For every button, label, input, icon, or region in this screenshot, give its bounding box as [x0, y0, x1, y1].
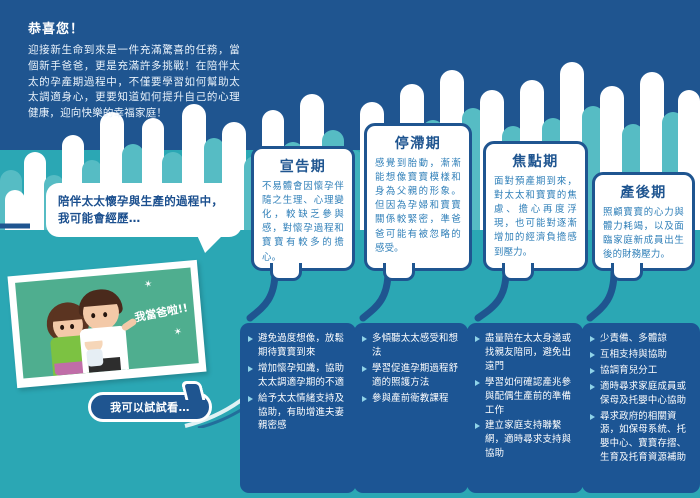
phase-card-0: 宣告期 不易體會因懷孕伴隨之生理、心理變化，較缺乏參與感，對懷孕過程和寶寶有較多…	[251, 146, 355, 271]
phase-card-3-title: 產後期	[603, 182, 684, 202]
secondary-speech-bubble: 我可以試試看…	[88, 392, 212, 422]
advice-item: 尋求政府的相關資源，如保母系統、托嬰中心、寶寶存摺、生育及托育資源補助	[589, 410, 692, 466]
advice-item: 避免過度想像，放鬆期待寶寶到來	[247, 332, 348, 360]
phase-card-1: 停滯期 感覺到胎動，漸漸能想像寶寶模樣和身為父親的形象。但因為孕婦和寶寶關係較緊…	[364, 123, 472, 271]
bubble-tail	[611, 263, 643, 281]
main-speech-bubble: 陪伴太太懷孕與生產的過程中，我可能會經歷…	[46, 183, 242, 237]
infographic-canvas: 恭喜您！ 迎接新生命到來是一件充滿驚喜的任務，當個新手爸爸，更是充滿許多挑戰！在…	[0, 0, 700, 498]
advice-list-2: 盡量陪在太太身邊或找親友陪同，避免出遠門學習如何確認產兆參與配偶生產前的準備工作…	[474, 332, 575, 461]
phase-card-3: 產後期 照顧寶寶的心力與體力耗竭，以及面臨家庭新成員出生後的財務壓力。	[592, 172, 695, 271]
advice-item: 給予太太情緒支持及協助，有助增進夫妻親密感	[247, 392, 348, 434]
advice-item: 多傾聽太太感受和想法	[361, 332, 460, 360]
intro-body: 迎接新生命到來是一件充滿驚喜的任務，當個新手爸爸，更是充滿許多挑戰！在陪伴太太的…	[28, 43, 240, 123]
advice-item: 適時尋求家庭成員或保母及托嬰中心協助	[589, 380, 692, 408]
advice-item: 盡量陪在太太身邊或找親友陪同，避免出遠門	[474, 332, 575, 374]
advice-panel-2: 盡量陪在太太身邊或找親友陪同，避免出遠門學習如何確認產兆參與配偶生產前的準備工作…	[467, 323, 583, 493]
photo-image: ✶ ✶ 我當爸啦!!	[15, 268, 199, 379]
advice-item: 參與產前衛教課程	[361, 392, 460, 406]
advice-list-3: 少責備、多體諒互相支持與協助協調育兒分工適時尋求家庭成員或保母及托嬰中心協助尋求…	[589, 332, 692, 465]
phase-card-2-body: 面對預產期到來，對太太和寶寶的焦慮、擔心再度浮現，也可能對逐漸增加的經濟負擔感到…	[494, 175, 577, 260]
phase-card-2-title: 焦點期	[494, 151, 577, 171]
advice-panel-1: 多傾聽太太感受和想法學習促進孕期過程舒適的照護方法參與產前衛教課程	[354, 323, 468, 493]
advice-item: 學習促進孕期過程舒適的照護方法	[361, 362, 460, 390]
advice-item: 互相支持與協助	[589, 348, 692, 362]
intro-block: 恭喜您！ 迎接新生命到來是一件充滿驚喜的任務，當個新手爸爸，更是充滿許多挑戰！在…	[28, 22, 240, 122]
advice-item: 學習如何確認產兆參與配偶生產前的準備工作	[474, 376, 575, 418]
phase-card-0-body: 不易體會因懷孕伴隨之生理、心理變化，較缺乏參與感，對懷孕過程和寶寶有較多的擔心。	[262, 180, 344, 265]
phase-card-1-body: 感覺到胎動，漸漸能想像寶寶模樣和身為父親的形象。但因為孕婦和寶寶關係較緊密，準爸…	[375, 157, 461, 256]
photo-card: ✶ ✶ 我當爸啦!!	[7, 260, 206, 388]
bubble-tail	[270, 263, 302, 281]
phase-card-3-body: 照顧寶寶的心力與體力耗竭，以及面臨家庭新成員出生後的財務壓力。	[603, 206, 684, 262]
phase-card-1-title: 停滯期	[375, 133, 461, 153]
secondary-speech-bubble-text: 我可以試試看…	[110, 399, 190, 415]
bubble-tail	[502, 263, 534, 281]
advice-item: 增加懷孕知識，協助太太調適孕期的不適	[247, 362, 348, 390]
advice-item: 協調育兒分工	[589, 364, 692, 378]
sparkle-icon: ✶	[142, 279, 153, 292]
bubble-tail	[383, 263, 415, 281]
phase-card-2: 焦點期 面對預產期到來，對太太和寶寶的焦慮、擔心再度浮現，也可能對逐漸增加的經濟…	[483, 141, 588, 271]
advice-item: 建立家庭支持聯繫網，適時尋求支持與協助	[474, 419, 575, 461]
phase-card-0-title: 宣告期	[262, 156, 344, 176]
advice-list-0: 避免過度想像，放鬆期待寶寶到來增加懷孕知識，協助太太調適孕期的不適給予太太情緒支…	[247, 332, 348, 433]
baby-figure	[82, 333, 107, 367]
advice-panel-3: 少責備、多體諒互相支持與協助協調育兒分工適時尋求家庭成員或保母及托嬰中心協助尋求…	[582, 323, 700, 493]
sparkle-icon: ✶	[172, 326, 183, 339]
intro-title: 恭喜您！	[28, 22, 240, 38]
main-speech-bubble-text: 陪伴太太懷孕與生產的過程中，我可能會經歷…	[58, 193, 230, 226]
advice-list-1: 多傾聽太太感受和想法學習促進孕期過程舒適的照護方法參與產前衛教課程	[361, 332, 460, 406]
advice-item: 少責備、多體諒	[589, 332, 692, 346]
advice-panel-0: 避免過度想像，放鬆期待寶寶到來增加懷孕知識，協助太太調適孕期的不適給予太太情緒支…	[240, 323, 356, 493]
photo-caption: 我當爸啦!!	[133, 299, 189, 325]
